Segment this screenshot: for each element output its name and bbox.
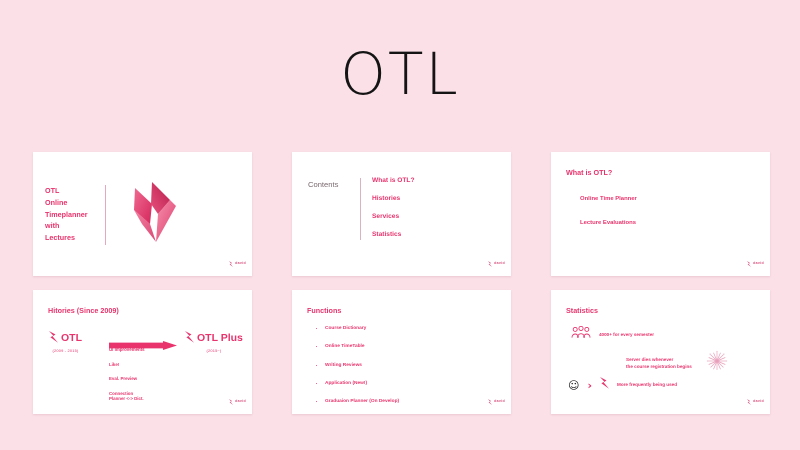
statistics-row-users: 4000+ for every semester (571, 326, 654, 345)
contents-divider (360, 178, 361, 240)
histories-right-product-label: OTL Plus (197, 332, 243, 344)
functions-bullet-list: Course Dictionary Online TimeTable Writi… (314, 326, 399, 405)
slide-footer: david (488, 392, 505, 410)
slide-footer: david (229, 392, 246, 410)
contents-slide[interactable]: Contents What is OTL? Histories Services… (292, 152, 511, 276)
histories-left-product-label: OTL (61, 332, 82, 344)
cover-line-4: with (45, 220, 103, 232)
histories-left-product-name-row: OTL (49, 330, 82, 346)
statistics-users-text: 4000+ for every semester (599, 332, 654, 339)
histories-right-product: OTL Plus (2015~) (185, 330, 243, 353)
contents-item-services[interactable]: Services (372, 214, 415, 221)
statistics-row-server: Server dies whenever the course registra… (626, 350, 728, 377)
statistics-server-text: Server dies whenever the course registra… (626, 357, 692, 370)
statistics-slide[interactable]: Statistics 4000+ for every semester Serv… (551, 290, 770, 414)
footer-author: david (235, 261, 246, 265)
people-group-icon (571, 326, 591, 345)
histories-heading: Hitories (Since 2009) (48, 306, 119, 315)
contents-wrap: Contents What is OTL? Histories Services… (308, 178, 415, 250)
slide-footer: david (747, 392, 764, 410)
slide-footer: david (747, 254, 764, 272)
cover-slide[interactable]: OTL Online Timeplanner with Lectures (33, 152, 252, 276)
contents-list: What is OTL? Histories Services Statisti… (372, 178, 415, 250)
cover-body: OTL Online Timeplanner with Lectures (45, 180, 178, 249)
slide-grid: OTL Online Timeplanner with Lectures (33, 152, 770, 414)
greater-than-icon: › (587, 380, 592, 391)
footer-bolt-icon (747, 392, 751, 410)
contents-item-histories[interactable]: Histories (372, 196, 415, 203)
histories-left-period: (2009 - 2015) (49, 348, 82, 353)
cover-title-lines: OTL Online Timeplanner with Lectures (45, 185, 103, 243)
functions-item-application: Application (New!) (325, 381, 399, 387)
histories-note-like: Like! (109, 362, 145, 368)
contents-label: Contents (308, 178, 360, 250)
cover-line-5: Lectures (45, 232, 103, 244)
what-is-otl-slide[interactable]: What is OTL? Online Time Planner Lecture… (551, 152, 770, 276)
histories-left-product: OTL (2009 - 2015) (49, 330, 82, 353)
footer-author: david (494, 399, 505, 403)
otl-bolt-logo-icon (132, 180, 178, 249)
footer-bolt-icon (488, 254, 492, 272)
statistics-server-line-2: the course registration begins (626, 364, 692, 369)
functions-heading: Functions (307, 306, 341, 315)
cover-line-3: Timeplanner (45, 209, 103, 221)
otl-bolt-icon (600, 376, 609, 394)
histories-arrow-icon (109, 337, 177, 346)
footer-bolt-icon (747, 254, 751, 272)
smiley-face-icon: ☺ (568, 380, 579, 391)
functions-item-online-timetable: Online TimeTable (325, 344, 399, 350)
histories-right-period: (2015~) (185, 348, 243, 353)
histories-right-product-name-row: OTL Plus (185, 330, 243, 346)
functions-item-graduation-planner: Graduaion Planner (On Develop) (325, 399, 399, 405)
slide-footer: david (229, 254, 246, 272)
deck-title: OTL (0, 40, 800, 108)
footer-bolt-icon (229, 392, 233, 410)
histories-note-planner-dict: Planner <-> Dict. (109, 396, 145, 402)
cover-divider (105, 185, 106, 245)
footer-bolt-icon (488, 392, 492, 410)
functions-item-course-dictionary: Course Dictionary (325, 326, 399, 332)
statistics-heading: Statistics (566, 306, 598, 315)
statistics-comparison-text: More frequently being used (617, 382, 677, 389)
cover-line-1: OTL (45, 185, 103, 197)
contents-item-statistics[interactable]: Statistics (372, 232, 415, 239)
contents-item-what-is-otl[interactable]: What is OTL? (372, 178, 415, 185)
firework-icon (706, 350, 728, 377)
histories-slide[interactable]: Hitories (Since 2009) OTL (2009 - 2015) (33, 290, 252, 414)
slide-footer: david (488, 254, 505, 272)
what-is-otl-item-evaluations: Lecture Evaluations (580, 221, 637, 227)
histories-note-ui: UI Improvements (109, 347, 145, 353)
cover-line-2: Online (45, 197, 103, 209)
histories-timeline: OTL (2009 - 2015) OTL Plus (2015~) (47, 330, 243, 362)
histories-note-eval: Eval. Preview (109, 376, 145, 382)
functions-slide[interactable]: Functions Course Dictionary Online TimeT… (292, 290, 511, 414)
histories-notes: UI Improvements Like! Eval. Preview Conn… (109, 347, 145, 402)
footer-author: david (753, 399, 764, 403)
statistics-server-line-1: Server dies whenever (626, 357, 673, 362)
footer-author: david (494, 261, 505, 265)
footer-author: david (753, 261, 764, 265)
otl-bolt-icon (49, 330, 58, 346)
what-is-otl-item-planner: Online Time Planner (580, 197, 637, 203)
functions-list: Course Dictionary Online TimeTable Writi… (314, 326, 399, 414)
what-is-otl-list: Online Time Planner Lecture Evaluations (580, 197, 637, 245)
functions-item-writing-reviews: Writing Reviews (325, 363, 399, 369)
what-is-otl-heading: What is OTL? (566, 168, 612, 177)
footer-author: david (235, 399, 246, 403)
footer-bolt-icon (229, 254, 233, 272)
otl-bolt-icon (185, 330, 194, 346)
statistics-row-comparison: ☺ › More frequently being used (568, 376, 677, 394)
